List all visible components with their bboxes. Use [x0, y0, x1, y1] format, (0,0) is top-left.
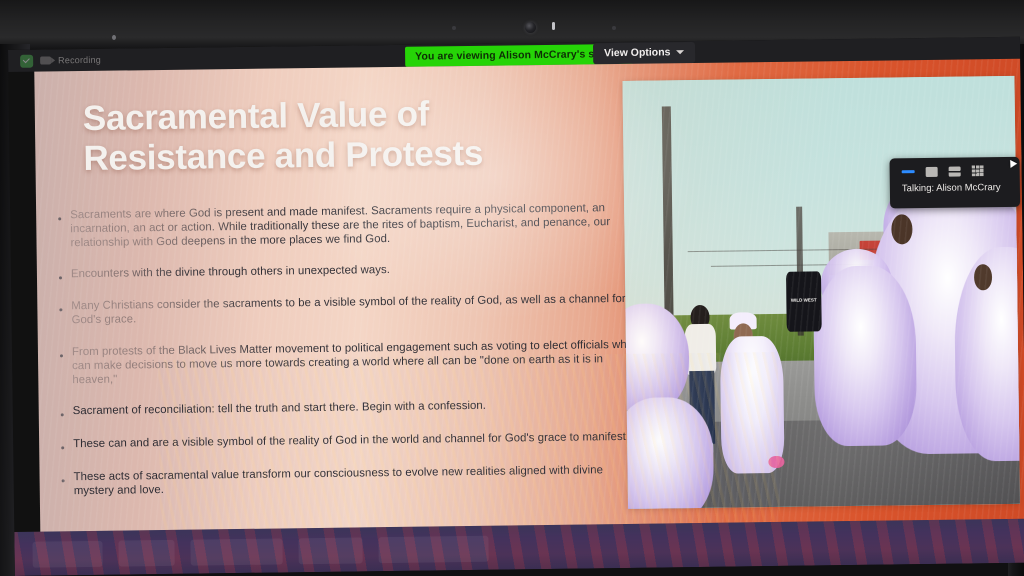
bullet-item: Sacraments are where God is present and …: [58, 202, 636, 251]
taskbar-item[interactable]: [298, 537, 362, 564]
taskbar-item[interactable]: [118, 540, 174, 567]
slide-photograph: WILD WEST: [622, 76, 1020, 509]
bezel-sensor-dot-right: [612, 26, 616, 30]
bullet-text: Sacrament of reconciliation: tell the tr…: [73, 400, 486, 419]
bullet-item: Many Christians consider the sacraments …: [59, 292, 637, 327]
bullet-dot-icon: [59, 276, 62, 279]
zoom-view-mode-icons: [889, 157, 1019, 178]
bullet-text: From protests of the Black Lives Matter …: [72, 339, 638, 388]
bullet-dot-icon: [61, 446, 64, 449]
bullet-item: These can and are a visible symbol of th…: [61, 431, 639, 452]
gallery-view-icon[interactable]: [972, 165, 984, 176]
photo-woman-top: [684, 324, 716, 376]
split-view-icon[interactable]: [949, 166, 961, 176]
slide-title-line-1: Sacramental Value of: [83, 92, 603, 139]
recording-indicator[interactable]: Recording: [8, 53, 101, 67]
photo-mardi-gras-suit: [813, 265, 917, 446]
bullet-text: These can and are a visible symbol of th…: [73, 431, 629, 452]
laptop-photo-frame: Recording You are viewing Alison McCrary…: [0, 0, 1024, 576]
view-options-label: View Options: [604, 46, 670, 59]
presentation-slide: Sacramental Value of Resistance and Prot…: [34, 59, 1024, 552]
taskbar-item[interactable]: [190, 538, 282, 565]
bullet-text: Encounters with the divine through other…: [71, 264, 390, 282]
bezel-light-glint: [552, 22, 555, 30]
bullet-dot-icon: [58, 217, 61, 220]
recording-label: Recording: [58, 55, 101, 66]
bullet-dot-icon: [61, 413, 64, 416]
bezel-speck: [112, 35, 116, 40]
bezel-sensor-dot-left: [452, 26, 456, 30]
bullet-text: Many Christians consider the sacraments …: [71, 292, 637, 327]
slide-bullet-list: Sacraments are where God is present and …: [58, 202, 640, 512]
slide-title: Sacramental Value of Resistance and Prot…: [83, 92, 604, 179]
taskbar-item[interactable]: [378, 536, 488, 563]
bullet-item: Encounters with the divine through other…: [59, 261, 637, 282]
photo-person-head: [974, 264, 992, 290]
bullet-item: Sacrament of reconciliation: tell the tr…: [61, 398, 639, 419]
chevron-down-icon: [676, 50, 684, 54]
bullet-dot-icon: [59, 308, 62, 311]
view-options-button[interactable]: View Options: [593, 42, 696, 64]
bullet-dot-icon: [60, 355, 63, 358]
talking-label: Talking: Alison McCrary: [890, 176, 1020, 195]
minimize-dash-icon[interactable]: [902, 170, 915, 173]
slide-title-line-2: Resistance and Protests: [83, 132, 603, 179]
shield-check-icon: [20, 54, 33, 67]
photo-child-suit: [720, 336, 785, 474]
bullet-item: From protests of the Black Lives Matter …: [60, 339, 638, 388]
laptop-screen: Recording You are viewing Alison McCrary…: [8, 37, 1024, 576]
photo-person-head: [891, 214, 913, 244]
bullet-text: These acts of sacramental value transfor…: [74, 464, 640, 499]
photo-wild-west-shirt: WILD WEST: [786, 271, 822, 331]
speaker-view-icon[interactable]: [926, 166, 938, 176]
bullet-dot-icon: [62, 479, 65, 482]
zoom-video-controls[interactable]: Talking: Alison McCrary: [889, 157, 1020, 209]
bullet-item: These acts of sacramental value transfor…: [62, 464, 640, 499]
webcam-icon: [525, 22, 536, 33]
record-camera-icon: [40, 56, 51, 64]
taskbar-item[interactable]: [32, 541, 102, 568]
bullet-text: Sacraments are where God is present and …: [70, 202, 636, 251]
